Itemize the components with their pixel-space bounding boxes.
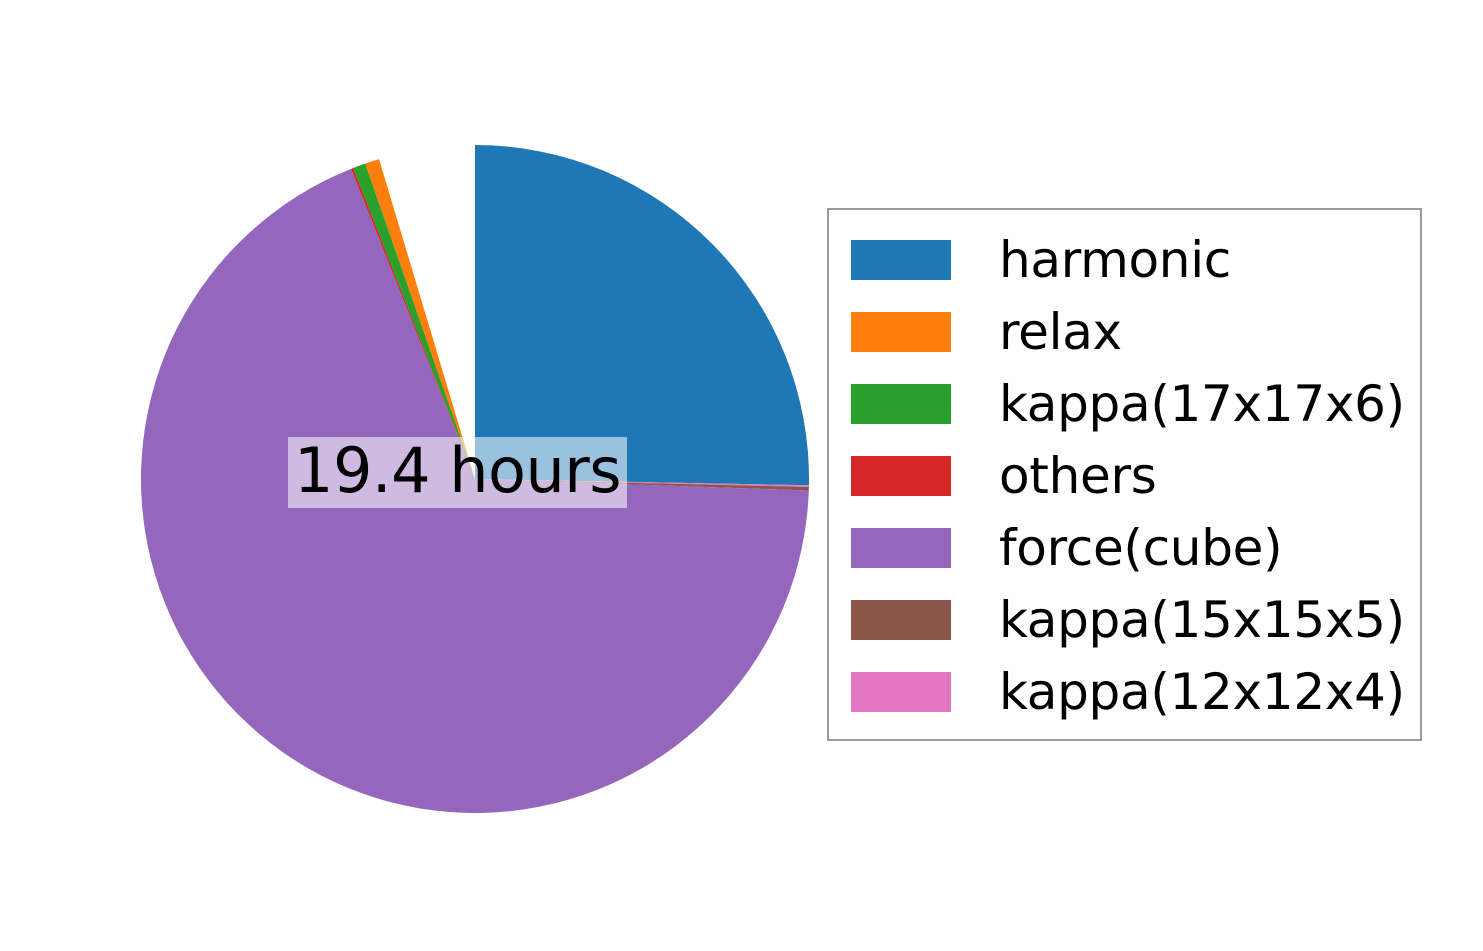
legend-item-label: relax [999, 303, 1122, 361]
legend-item-label: kappa(15x15x5) [999, 591, 1405, 649]
legend-color-swatch [851, 528, 951, 568]
legend-color-swatch [851, 312, 951, 352]
legend-color-swatch [851, 672, 951, 712]
legend-item-label: kappa(12x12x4) [999, 663, 1405, 721]
legend-item[interactable]: harmonic [851, 224, 1410, 296]
legend-item[interactable]: force(cube) [851, 512, 1410, 584]
legend-item-label: harmonic [999, 231, 1231, 289]
chart-legend: harmonicrelaxkappa(17x17x6)othersforce(c… [827, 208, 1422, 741]
legend-item[interactable]: kappa(15x15x5) [851, 584, 1410, 656]
legend-color-swatch [851, 600, 951, 640]
legend-color-swatch [851, 240, 951, 280]
legend-color-swatch [851, 384, 951, 424]
legend-entries-list: harmonicrelaxkappa(17x17x6)othersforce(c… [851, 224, 1410, 729]
legend-item[interactable]: relax [851, 296, 1410, 368]
legend-item-label: force(cube) [999, 519, 1282, 577]
legend-item-label: kappa(17x17x6) [999, 375, 1405, 433]
legend-item[interactable]: kappa(17x17x6) [851, 368, 1410, 440]
legend-item-label: others [999, 447, 1156, 505]
legend-item[interactable]: others [851, 440, 1410, 512]
legend-color-swatch [851, 456, 951, 496]
pie-center-label: 19.4 hours [288, 437, 627, 508]
pie-chart-figure: 19.4 hours harmonicrelaxkappa(17x17x6)ot… [0, 0, 1483, 951]
legend-item[interactable]: kappa(12x12x4) [851, 656, 1410, 728]
